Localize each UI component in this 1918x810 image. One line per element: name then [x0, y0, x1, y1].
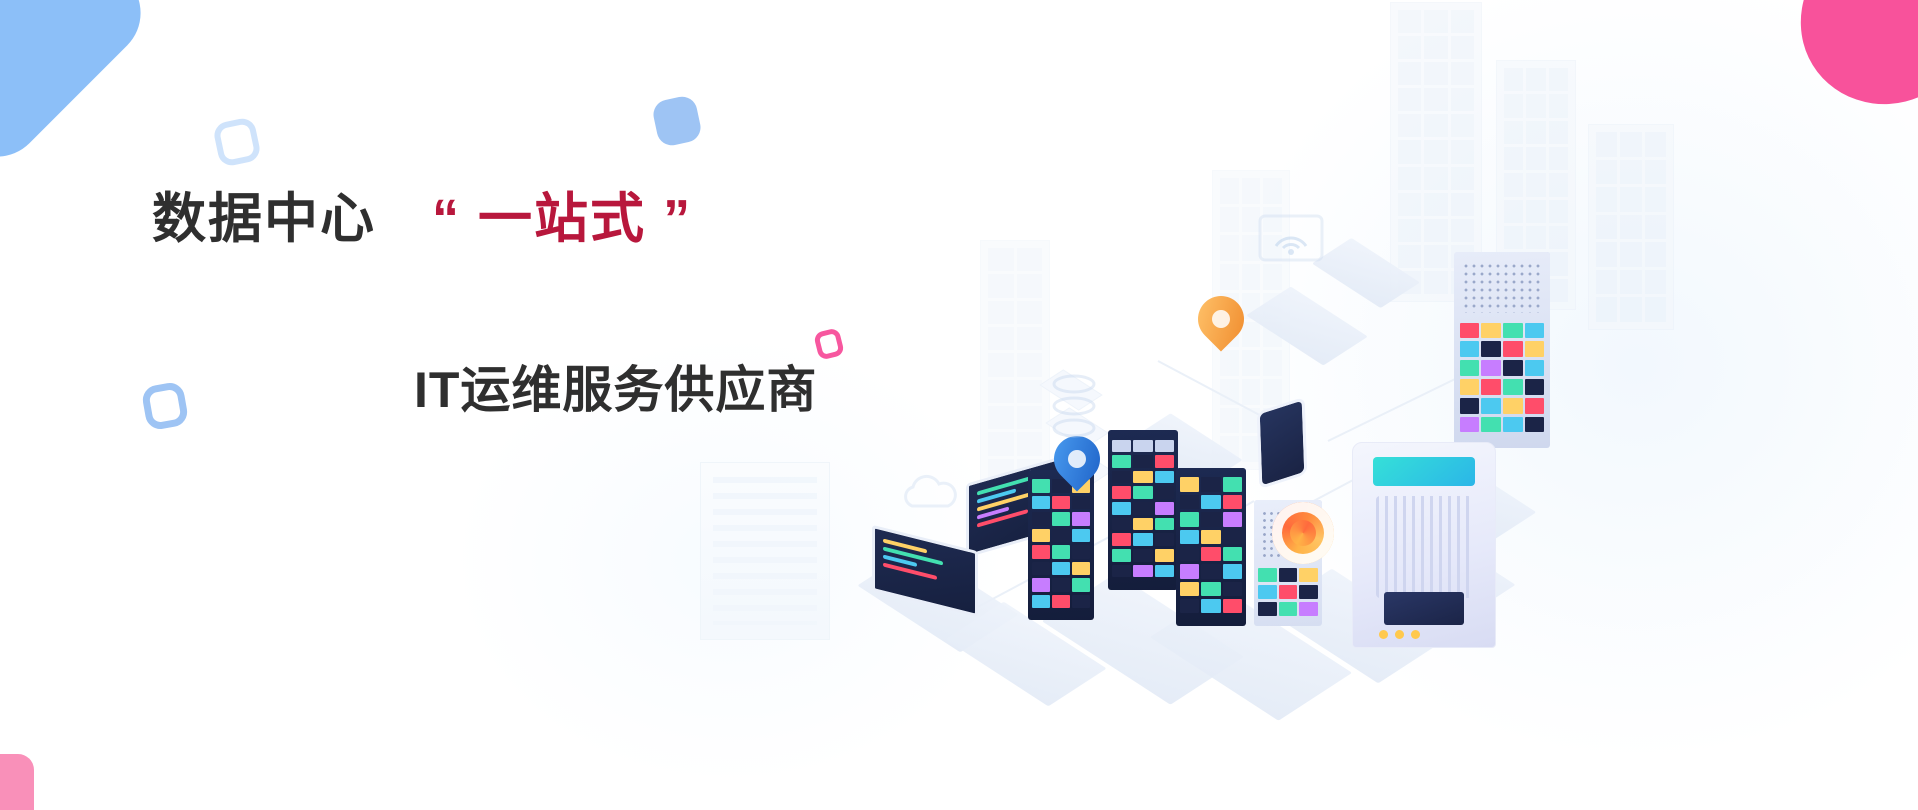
laptop-code-lines — [883, 539, 967, 604]
wifi-icon — [1256, 212, 1326, 268]
tower-control-panel — [1384, 592, 1464, 625]
location-pin-icon — [1198, 296, 1244, 356]
headline-prefix: 数据中心 — [152, 189, 376, 249]
connector-line — [1328, 374, 1464, 442]
headline-quote-close: ” — [663, 189, 692, 249]
rack-led-panel — [1460, 323, 1545, 433]
pin-head — [1188, 286, 1253, 351]
location-pin-icon — [1054, 436, 1100, 496]
tower-screen — [1373, 457, 1475, 486]
headline-line-1: 数据中心 “ 一站式 ” — [152, 188, 912, 252]
rack-led-panel — [1032, 479, 1090, 608]
platform-tile — [1246, 286, 1368, 365]
tower-vents — [1376, 496, 1473, 598]
corner-shape-blue — [0, 0, 160, 176]
tower-cabinet — [1352, 442, 1496, 648]
rounded-square-ring-blue-light-icon — [212, 116, 262, 168]
headline-quote-open: “ — [432, 189, 461, 249]
rack-led-panel — [1112, 440, 1174, 578]
server-rack — [1108, 430, 1178, 590]
smartphone — [1257, 397, 1308, 490]
currency-swirl-icon — [1272, 502, 1334, 564]
corner-shape-pink-bottom-left — [0, 754, 34, 810]
rack-perforation — [1462, 262, 1543, 313]
database-stack-icon — [1046, 372, 1102, 444]
server-rack — [1176, 468, 1246, 626]
platform-tile — [1312, 238, 1420, 308]
rack-led-panel — [1258, 568, 1318, 616]
tower-indicator-lights — [1379, 630, 1420, 639]
rounded-square-solid-blue-icon — [651, 94, 704, 148]
rack-led-panel — [1180, 477, 1242, 613]
hero-banner: 数据中心 “ 一站式 ” IT运维服务供应商 — [0, 0, 1918, 810]
cloud-icon — [894, 474, 966, 514]
server-rack — [1454, 252, 1550, 448]
ghost-server — [700, 462, 830, 640]
headline-block: 数据中心 “ 一站式 ” IT运维服务供应商 — [152, 188, 912, 422]
headline-accent-text: 一站式 — [478, 189, 646, 249]
headline-line-2: IT运维服务供应商 — [414, 350, 912, 422]
isometric-data-center-illustration — [858, 0, 1918, 810]
